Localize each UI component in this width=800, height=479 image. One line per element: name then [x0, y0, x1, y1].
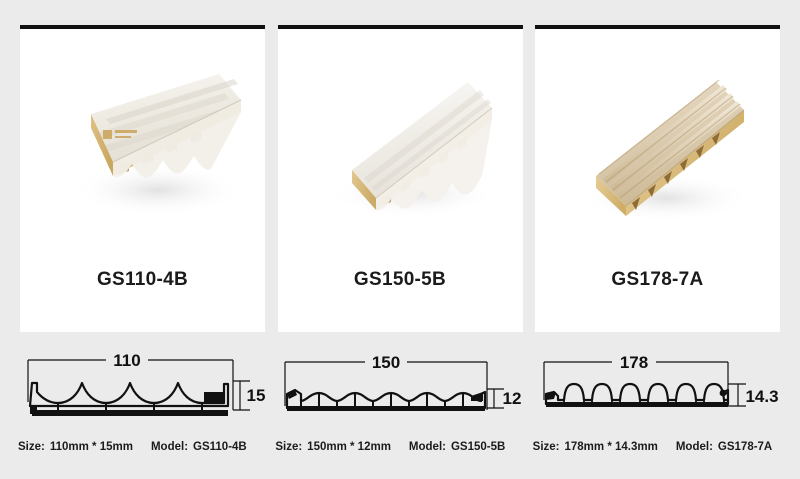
- product-card-row: GS110-4B: [0, 0, 800, 332]
- product-card[interactable]: GS110-4B: [20, 25, 265, 332]
- spec-block: 150 12: [271, 332, 528, 479]
- model-value: GS110-4B: [193, 441, 247, 453]
- spec-block: 178 14.3: [529, 332, 786, 479]
- model-value: GS150-5B: [451, 441, 505, 453]
- size-value: 110mm * 15mm: [50, 441, 133, 453]
- height-value: 12: [503, 389, 522, 408]
- size-key: Size:: [533, 441, 560, 453]
- product-model-label: GS110-4B: [97, 269, 188, 291]
- panel-photo-icon: [548, 38, 768, 238]
- panel-cross-section: [30, 382, 230, 416]
- model-key: Model:: [151, 441, 188, 453]
- panel-photo-icon: [33, 38, 253, 238]
- size-value: 150mm * 12mm: [307, 441, 391, 453]
- size-key: Size:: [18, 441, 45, 453]
- product-card[interactable]: GS178-7A: [535, 25, 780, 332]
- width-value: 150: [372, 353, 400, 372]
- spec-caption: Size: 178mm * 14.3mm Model: GS178-7A: [533, 441, 773, 453]
- panel-photo-icon: [290, 38, 510, 238]
- width-value: 178: [620, 353, 648, 372]
- model-key: Model:: [676, 441, 713, 453]
- spec-caption: Size: 110mm * 15mm Model: GS110-4B: [18, 441, 247, 453]
- dimension-drawing: 178 14.3: [532, 348, 782, 426]
- size-key: Size:: [275, 441, 302, 453]
- product-model-label: GS150-5B: [354, 269, 446, 291]
- product-model-label: GS178-7A: [611, 269, 703, 291]
- product-card[interactable]: GS150-5B: [278, 25, 523, 332]
- panel-cross-section: [287, 390, 485, 411]
- product-photo: [535, 29, 780, 247]
- model-key: Model:: [409, 441, 446, 453]
- width-value: 110: [113, 351, 140, 370]
- dimension-drawing: 150 12: [275, 348, 525, 426]
- spec-block: 110 15 Size:: [14, 332, 271, 479]
- height-value: 15: [246, 386, 265, 405]
- spec-caption: Size: 150mm * 12mm Model: GS150-5B: [275, 441, 505, 453]
- product-photo: [20, 29, 265, 247]
- product-photo: [278, 29, 523, 247]
- panel-cross-section: [546, 384, 728, 407]
- dimension-drawing: 110 15: [18, 348, 268, 426]
- spec-row: 110 15 Size:: [0, 332, 800, 479]
- size-value: 178mm * 14.3mm: [565, 441, 658, 453]
- height-value: 14.3: [746, 387, 779, 406]
- model-value: GS178-7A: [718, 441, 772, 453]
